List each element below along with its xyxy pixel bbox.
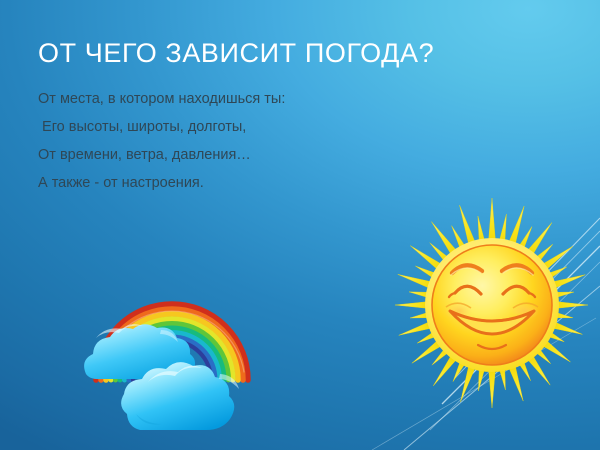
slide-canvas: ОТ ЧЕГО ЗАВИСИТ ПОГОДА? От места, в кото… [0,0,600,450]
smiling-sun-icon [385,197,600,422]
page-title: ОТ ЧЕГО ЗАВИСИТ ПОГОДА? [38,37,434,69]
rainbow-and-clouds [78,262,293,437]
body-line: А также - от настроения. [38,174,204,192]
body-line: Его высоты, широты, долготы, [38,118,246,136]
body-line: От места, в котором находишься ты: [38,90,285,108]
body-line: От времени, ветра, давления… [38,146,251,164]
